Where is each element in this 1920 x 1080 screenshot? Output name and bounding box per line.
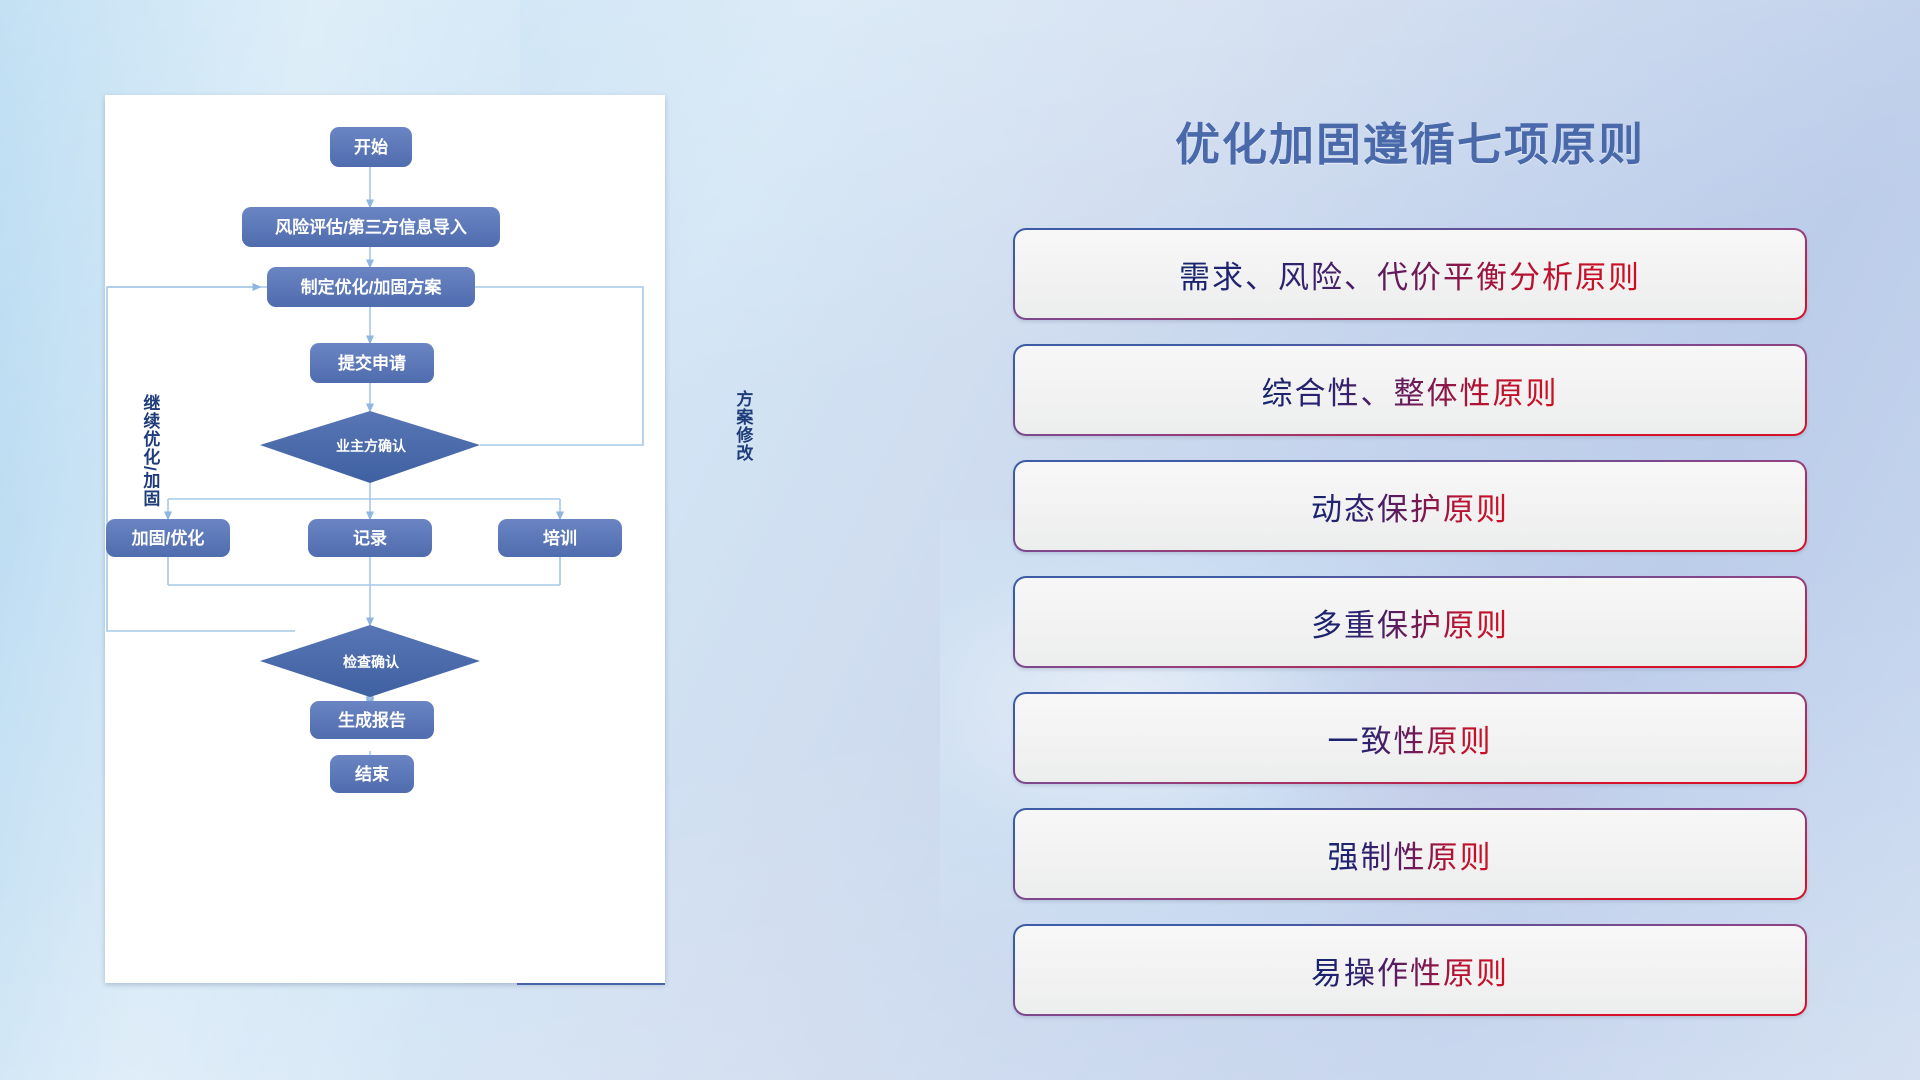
flow-node-plan[interactable]: 制定优化/加固方案 <box>267 267 475 307</box>
flow-node-check-confirm[interactable]: 检查确认 <box>260 625 480 697</box>
flow-node-label: 制定优化/加固方案 <box>301 277 443 297</box>
principle-card[interactable]: 需求、风险、代价平衡分析原则 <box>1013 228 1807 320</box>
principle-card[interactable]: 动态保护原则 <box>1013 460 1807 552</box>
principle-label: 动态保护原则 <box>1311 484 1509 529</box>
principle-card-inner: 动态保护原则 <box>1015 462 1805 550</box>
flow-label-revise-plan: 方案修改 <box>733 390 751 462</box>
principle-card[interactable]: 多重保护原则 <box>1013 576 1807 668</box>
flow-label-continue-optimize: 继续优化/加固 <box>140 394 158 508</box>
flow-node-label: 开始 <box>354 137 388 157</box>
flow-node-label: 记录 <box>353 529 387 548</box>
principle-card-inner: 多重保护原则 <box>1015 578 1805 666</box>
flow-node-train[interactable]: 培训 <box>498 519 622 557</box>
principles-list: 需求、风险、代价平衡分析原则 综合性、整体性原则 动态保护原则 多重保护原则 一… <box>900 228 1920 1040</box>
flow-node-submit[interactable]: 提交申请 <box>310 343 434 383</box>
principle-label: 一致性原则 <box>1328 716 1493 761</box>
principle-card-inner: 易操作性原则 <box>1015 926 1805 1014</box>
flow-node-start[interactable]: 开始 <box>330 127 412 167</box>
principle-card[interactable]: 易操作性原则 <box>1013 924 1807 1016</box>
flow-node-owner-confirm[interactable]: 业主方确认 <box>260 411 480 483</box>
principle-label: 综合性、整体性原则 <box>1262 368 1559 413</box>
principle-card[interactable]: 综合性、整体性原则 <box>1013 344 1807 436</box>
flow-node-label: 检查确认 <box>343 654 400 670</box>
flow-node-label: 生成报告 <box>338 710 406 730</box>
flow-node-label: 培训 <box>543 528 577 548</box>
flow-node-label: 风险评估/第三方信息导入 <box>275 217 467 237</box>
flowchart-panel: 开始 风险评估/第三方信息导入 制定优化/加固方案 提交申请 业主方确认 加固/… <box>0 0 900 1080</box>
principle-label: 易操作性原则 <box>1311 948 1509 993</box>
principle-card[interactable]: 一致性原则 <box>1013 692 1807 784</box>
page-title: 优化加固遵循七项原则 <box>900 108 1920 173</box>
flow-node-label: 业主方确认 <box>336 438 407 454</box>
principle-card[interactable]: 强制性原则 <box>1013 808 1807 900</box>
principle-card-inner: 需求、风险、代价平衡分析原则 <box>1015 230 1805 318</box>
flow-node-record[interactable]: 记录 <box>308 519 432 557</box>
flow-node-reinforce[interactable]: 加固/优化 <box>106 519 230 557</box>
flow-node-report[interactable]: 生成报告 <box>310 701 434 739</box>
flow-node-risk[interactable]: 风险评估/第三方信息导入 <box>242 207 500 247</box>
principle-label: 多重保护原则 <box>1311 600 1509 645</box>
principles-panel: 优化加固遵循七项原则 需求、风险、代价平衡分析原则 综合性、整体性原则 动态保护… <box>900 0 1920 1080</box>
flowchart-diagram: 开始 风险评估/第三方信息导入 制定优化/加固方案 提交申请 业主方确认 加固/… <box>105 95 665 983</box>
principle-card-inner: 强制性原则 <box>1015 810 1805 898</box>
flow-node-label: 加固/优化 <box>131 528 205 548</box>
flow-node-label: 提交申请 <box>338 353 406 373</box>
principle-label: 强制性原则 <box>1328 832 1493 877</box>
principle-card-inner: 综合性、整体性原则 <box>1015 346 1805 434</box>
flow-node-label: 结束 <box>355 764 389 784</box>
flow-node-end[interactable]: 结束 <box>330 755 414 793</box>
principle-label: 需求、风险、代价平衡分析原则 <box>1179 252 1641 297</box>
principle-card-inner: 一致性原则 <box>1015 694 1805 782</box>
